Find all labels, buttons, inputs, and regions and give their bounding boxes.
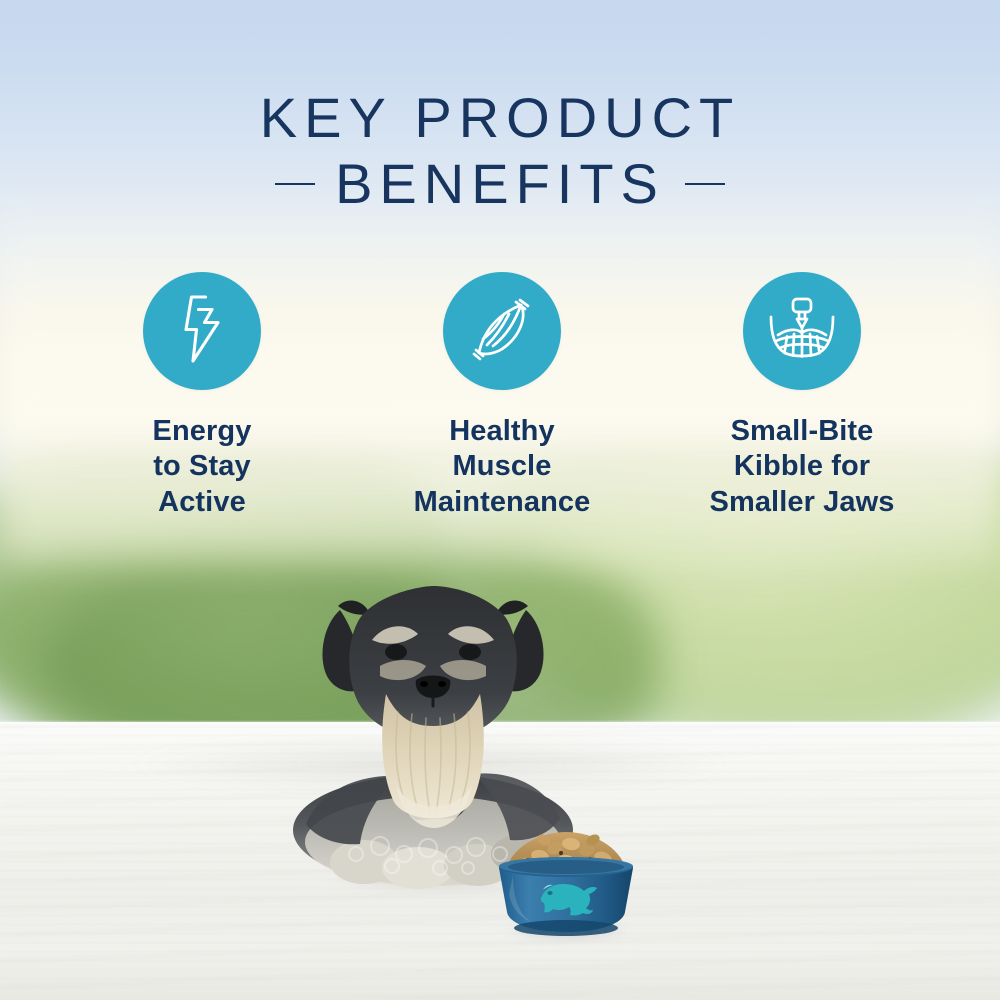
benefit-icon-circle [143,272,261,390]
benefit-label-line3: Active [153,485,252,520]
dash-left-icon [275,183,315,185]
page-title-line1: KEY PRODUCT [0,88,1000,147]
benefit-label-line2: to Stay [153,449,252,484]
benefit-label-line3: Maintenance [414,485,591,520]
benefit-label-line1: Energy [153,414,252,449]
benefit-label-line2: Muscle [414,449,591,484]
benefit-icon-circle [743,272,861,390]
page-title-line2: BENEFITS [335,151,665,217]
benefit-label-energy: Energy to Stay Active [153,414,252,520]
benefit-label-jaw: Small-Bite Kibble for Smaller Jaws [710,414,895,520]
benefit-label-line1: Small-Bite [710,414,895,449]
page-title-line2-wrap: BENEFITS [0,151,1000,217]
marketing-banner: KEY PRODUCT BENEFITS Energy to Stay Acti… [0,0,1000,1000]
benefit-label-line2: Kibble for [710,449,895,484]
benefit-item-energy: Energy to Stay Active [52,272,352,520]
benefit-item-muscle: Healthy Muscle Maintenance [352,272,652,520]
lightning-bolt-icon [174,293,230,370]
muscle-fiber-icon [466,293,538,370]
benefit-icon-circle [443,272,561,390]
dash-right-icon [685,183,725,185]
benefit-item-jaw: Small-Bite Kibble for Smaller Jaws [652,272,952,520]
jaw-teeth-icon [763,295,841,368]
benefits-list: Energy to Stay Active [52,272,952,520]
page-title: KEY PRODUCT BENEFITS [0,88,1000,217]
benefit-label-line3: Smaller Jaws [710,485,895,520]
dog-food-bowl [487,820,645,940]
benefit-label-line1: Healthy [414,414,591,449]
benefit-label-muscle: Healthy Muscle Maintenance [414,414,591,520]
